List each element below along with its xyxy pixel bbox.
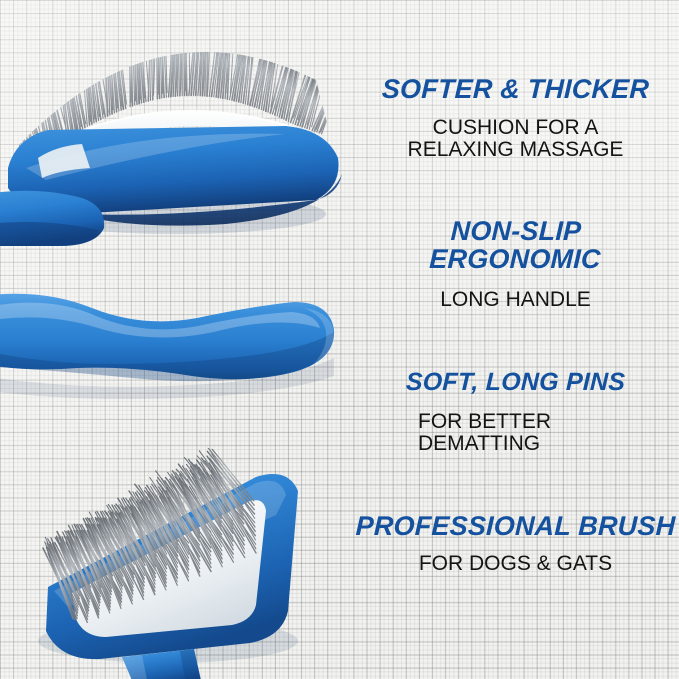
title-line: NON-SLIP — [352, 218, 679, 246]
feature-subtitle-soft-long-pins: FOR BETTER DEMATTING — [352, 411, 679, 456]
subtitle-line: FOR BETTER — [418, 411, 679, 433]
feature-text-column: SOFTER & THICKER CUSHION FOR A RELAXING … — [352, 0, 679, 679]
product-infographic: SOFTER & THICKER CUSHION FOR A RELAXING … — [0, 0, 679, 679]
feature-title-non-slip-ergonomic: NON-SLIP ERGONOMIC — [351, 218, 679, 273]
feature-title-professional-brush: PROFESSIONAL BRUSH — [352, 513, 679, 541]
feature-block-professional-brush: PROFESSIONAL BRUSH FOR DOGS & GATS — [352, 513, 679, 575]
feature-title-soft-long-pins: SOFT, LONG PINS — [352, 370, 679, 396]
feature-title-softer-thicker: SOFTER & THICKER — [352, 76, 679, 104]
title-line: ERGONOMIC — [351, 246, 679, 274]
feature-block-softer-thicker: SOFTER & THICKER CUSHION FOR A RELAXING … — [352, 76, 679, 161]
feature-block-non-slip-ergonomic: NON-SLIP ERGONOMIC LONG HANDLE — [352, 218, 679, 311]
feature-subtitle-non-slip-ergonomic: LONG HANDLE — [352, 289, 679, 311]
feature-block-soft-long-pins: SOFT, LONG PINS FOR BETTER DEMATTING — [352, 370, 679, 455]
feature-subtitle-softer-thicker: CUSHION FOR A RELAXING MASSAGE — [352, 117, 679, 162]
feature-subtitle-professional-brush: FOR DOGS & GATS — [352, 553, 679, 575]
subtitle-line: DEMATTING — [418, 433, 679, 455]
subtitle-line: FOR DOGS & GATS — [352, 553, 679, 575]
subtitle-line: RELAXING MASSAGE — [352, 139, 679, 161]
subtitle-line: LONG HANDLE — [352, 289, 679, 311]
subtitle-line: CUSHION FOR A — [352, 117, 679, 139]
